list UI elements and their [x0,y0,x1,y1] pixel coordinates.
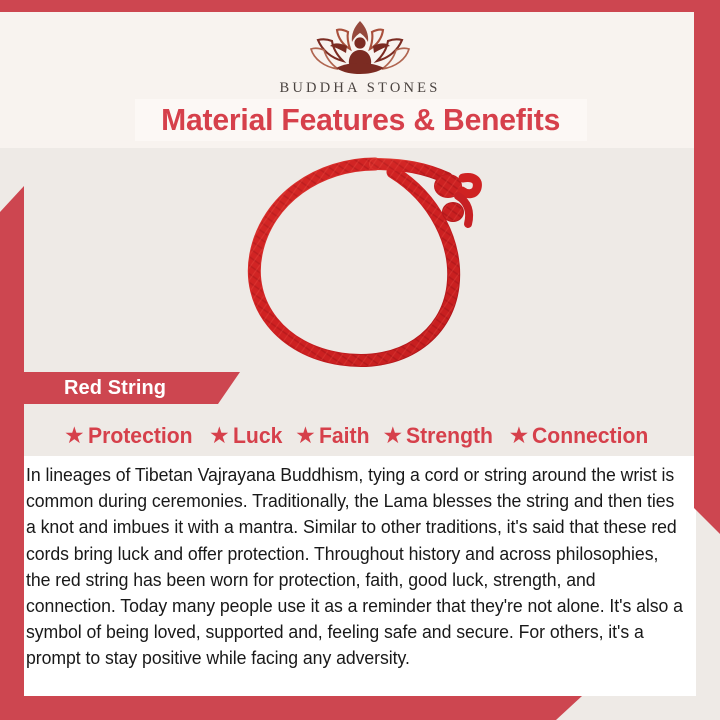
lotus-meditation-icon [0,16,720,78]
benefit-label: Protection [88,423,193,449]
benefit-item: ★ Faith [292,423,375,449]
page-title-band: Material Features & Benefits [135,99,587,141]
frame-left-bar [0,186,24,720]
benefit-label: Faith [319,423,370,449]
star-icon: ★ [64,424,85,447]
frame-bottom-bar [0,696,582,720]
description-text: In lineages of Tibetan Vajrayana Buddhis… [26,462,687,672]
star-icon: ★ [382,424,403,447]
frame-top-bar [0,0,720,12]
product-image [150,150,580,375]
star-icon: ★ [295,424,316,447]
description-card: In lineages of Tibetan Vajrayana Buddhis… [22,456,696,696]
benefit-item: ★ Luck [206,423,288,449]
brand-logo: BUDDHA STONES [0,16,720,97]
benefit-item: ★ Protection [61,423,202,449]
star-icon: ★ [209,424,230,447]
product-name-ribbon: Red String [22,372,240,404]
benefit-label: Luck [233,423,282,449]
benefit-item: ★ Connection [506,423,659,449]
brand-wordmark: BUDDHA STONES [0,80,720,97]
frame-right-bar [694,0,720,534]
page-title: Material Features & Benefits [162,102,561,138]
benefit-item: ★ Strength [379,423,501,449]
red-braided-string-bracelet-icon [225,150,505,375]
infographic-page: BUDDHA STONES Material Features & Benefi… [0,0,720,720]
benefit-label: Strength [406,423,493,449]
product-name-label: Red String [64,377,166,400]
benefits-list: ★ Protection ★ Luck ★ Faith ★ Strength ★… [24,416,696,456]
star-icon: ★ [509,424,530,447]
benefit-label: Connection [532,423,648,449]
